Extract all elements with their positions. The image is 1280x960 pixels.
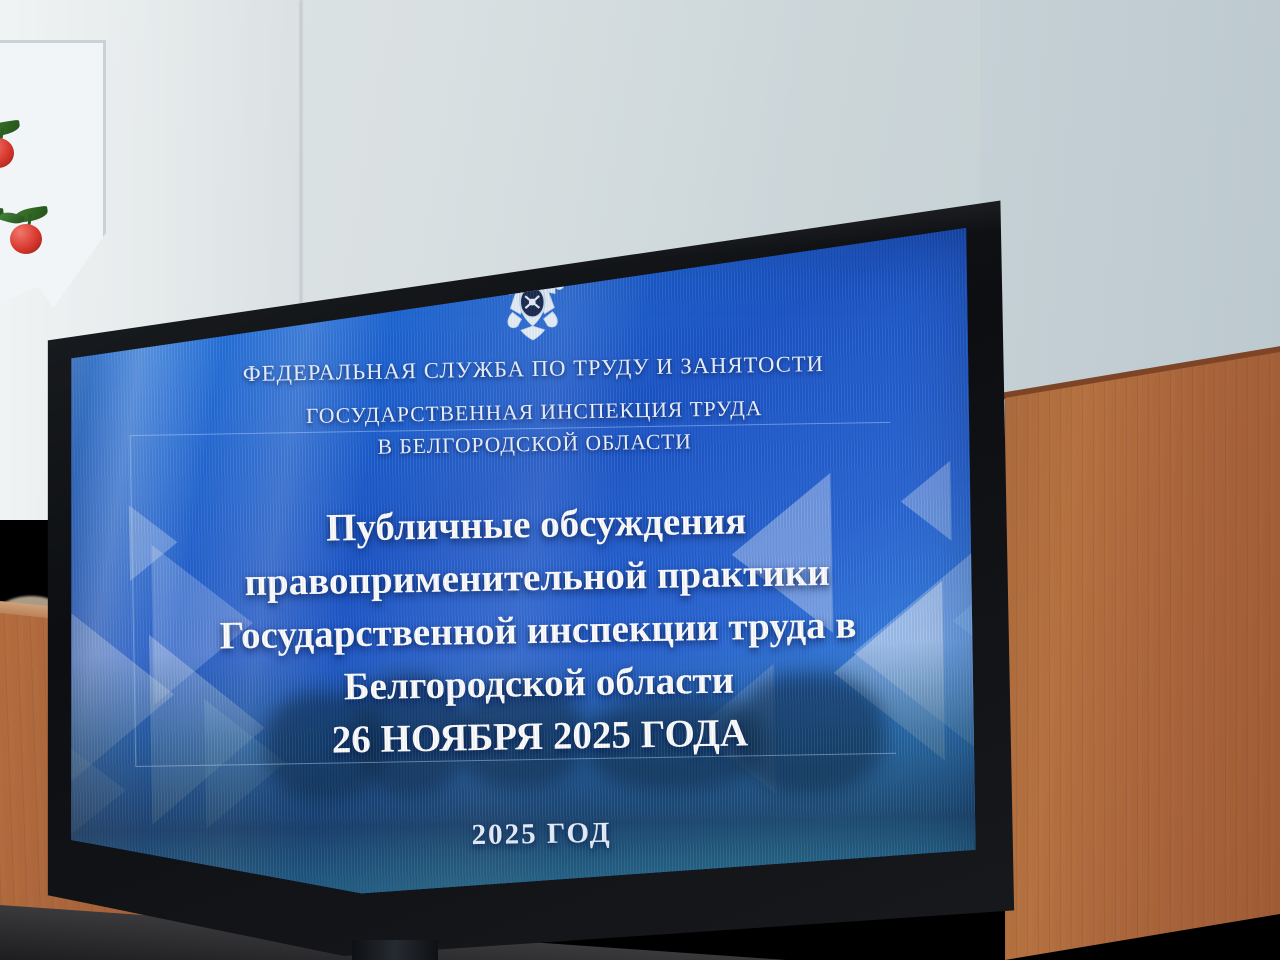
russian-eagle-emblem-icon [475,243,589,351]
wood-wainscot-right [1005,348,1280,960]
room-photo: ФЕДЕРАЛЬНАЯ СЛУЖБА ПО ТРУДУ И ЗАНЯТОСТИ … [0,0,1280,960]
apple-icon [0,122,24,168]
lg-display: ФЕДЕРАЛЬНАЯ СЛУЖБА ПО ТРУДУ И ЗАНЯТОСТИ … [40,196,1020,956]
slide-title: Публичные обсуждения правоприменительной… [96,490,980,770]
slide-footer-year: 2025 ГОД [471,817,612,852]
monitor-stand [352,940,438,960]
